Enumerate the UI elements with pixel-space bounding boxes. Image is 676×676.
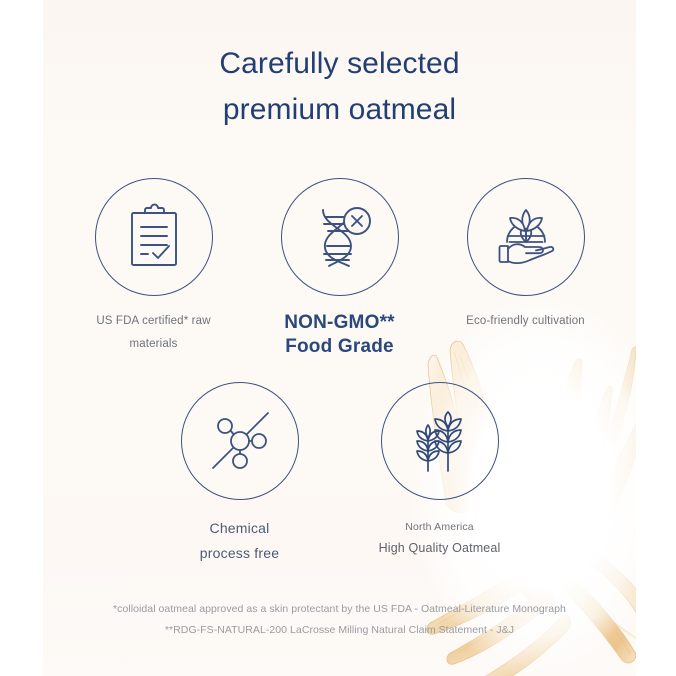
caption-line-2: materials (96, 333, 210, 356)
caption-line-1: Chemical (210, 520, 270, 536)
molecule-strikethrough-icon (181, 382, 299, 500)
clipboard-check-icon (95, 178, 213, 296)
feature-eco-friendly-cultivation: Eco-friendly cultivation (433, 178, 619, 360)
wheat-stalks-icon (381, 382, 499, 500)
footnotes: *colloidal oatmeal approved as a skin pr… (43, 599, 636, 640)
heading-line-2: premium oatmeal (216, 89, 463, 132)
feature-caption: Chemical process free (200, 516, 279, 565)
caption-line-2: Food Grade (285, 336, 394, 357)
caption-line-1: US FDA certified* raw (96, 315, 210, 327)
feature-us-fda-certified: US FDA certified* raw materials (61, 178, 247, 360)
caption-line-2: process free (200, 545, 279, 561)
feature-caption: US FDA certified* raw materials (96, 310, 210, 356)
footnote-line-1: *colloidal oatmeal approved as a skin pr… (43, 599, 636, 619)
feature-chemical-process-free: Chemical process free (140, 382, 340, 565)
caption-line-1: North America (379, 518, 501, 537)
caption-line-2: High Quality Oatmeal (379, 537, 501, 560)
feature-caption: NON-GMO** Food Grade (284, 311, 395, 360)
caption-line-1: Eco-friendly cultivation (466, 315, 585, 327)
page-title: Carefully selected premium oatmeal (43, 44, 636, 132)
dna-no-gmo-icon (281, 178, 399, 296)
feature-non-gmo-food-grade: NON-GMO** Food Grade (247, 178, 433, 360)
footnote-line-2: **RDG-FS-NATURAL-200 LaCrosse Milling Na… (43, 620, 636, 640)
heading-line-1: Carefully selected (43, 44, 636, 83)
feature-north-america-oatmeal: North America High Quality Oatmeal (340, 382, 540, 565)
feature-caption: Eco-friendly cultivation (466, 310, 585, 333)
hand-globe-leaf-icon (467, 178, 585, 296)
content-panel: Carefully selected premium oatmeal (43, 0, 636, 676)
feature-caption: North America High Quality Oatmeal (379, 518, 501, 561)
product-infographic-page: Carefully selected premium oatmeal (0, 0, 676, 676)
caption-line-1: NON-GMO** (284, 312, 395, 333)
feature-row-bottom: Chemical process free (43, 382, 636, 565)
feature-row-top: US FDA certified* raw materials (43, 178, 636, 360)
